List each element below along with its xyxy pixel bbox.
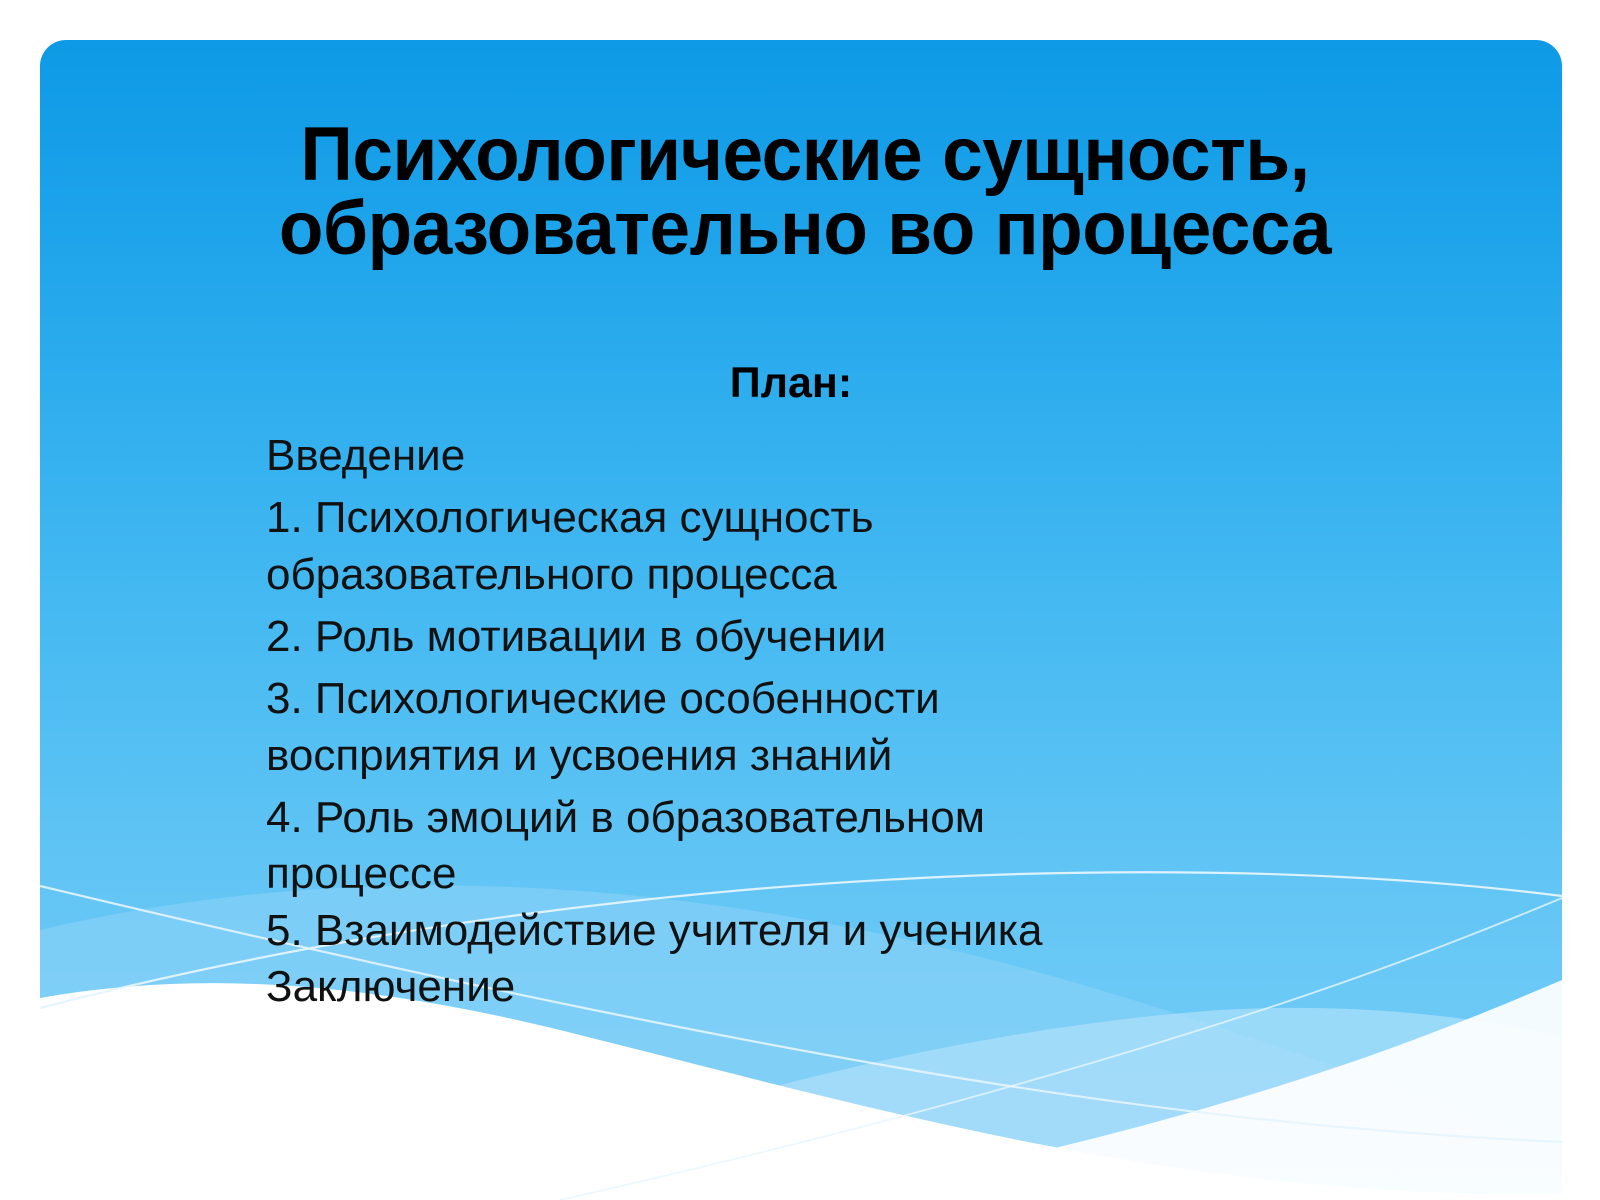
slide-panel: Психологические сущность, образовательно… <box>40 40 1562 1200</box>
list-item: 5. Взаимодействие учителя и ученика <box>266 903 1446 959</box>
list-item: 4. Роль эмоций в образовательном процесс… <box>266 790 1446 903</box>
list-item: 3. Психологические особенности восприяти… <box>266 671 1446 784</box>
slide-content: Психологические сущность, образовательно… <box>40 40 1562 1200</box>
list-item: 2. Роль мотивации в обучении <box>266 609 1446 665</box>
list-item: 1. Психологическая сущность образователь… <box>266 490 1446 603</box>
list-item: Введение <box>266 428 1446 484</box>
plan-list: Введение 1. Психологическая сущность обр… <box>266 428 1446 1015</box>
slide-root: Психологические сущность, образовательно… <box>0 0 1600 1200</box>
list-item: Заключение <box>266 959 1446 1015</box>
slide-title: Психологические сущность, образовательно… <box>195 118 1414 267</box>
plan-heading: План: <box>266 360 1316 407</box>
